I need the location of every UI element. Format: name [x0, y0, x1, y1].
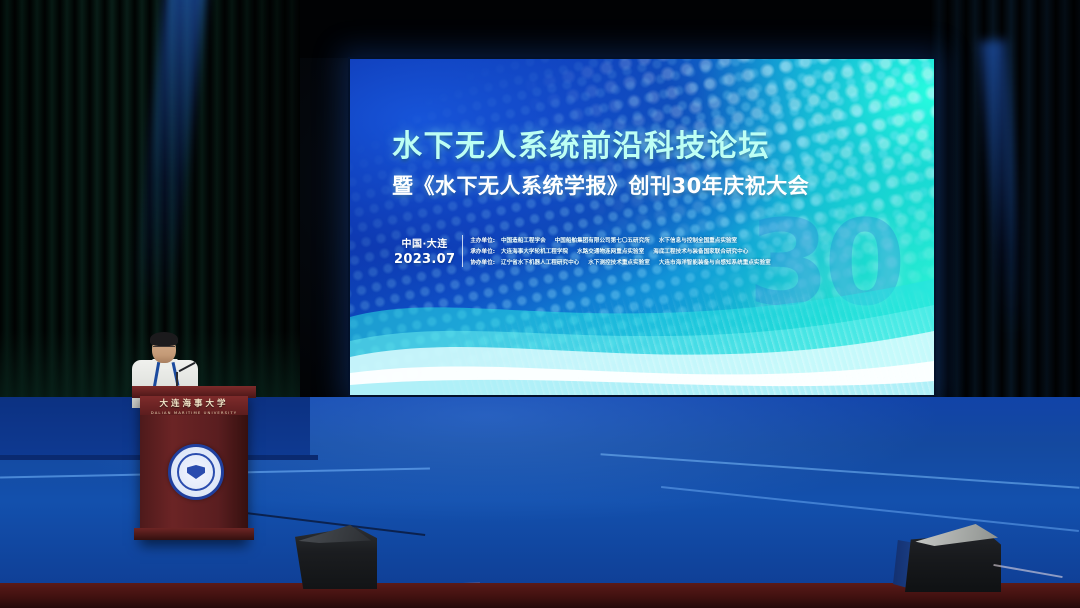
organizer-item: 水下测控技术重点实验室 [588, 258, 650, 266]
wave-line-texture [350, 275, 934, 395]
organizer-row: 主办单位: 中国造船工程学会 中国船舶集团有限公司第七〇五研究所 水下信息与控制… [470, 236, 770, 244]
emblem-core-shape [187, 465, 205, 479]
organizer-item: 水下信息与控制全国重点实验室 [659, 236, 737, 244]
organizer-item: 水路交通物连网重点实验室 [577, 247, 644, 255]
podium-nameplate: 大连海事大学 DALIAN MARITIME UNIVERSITY [140, 396, 248, 415]
organizer-item: 大连市海洋智能装备与自感知系统重点实验室 [659, 258, 771, 266]
organizer-item: 海底工程技术与装备国家联合研究中心 [653, 247, 748, 255]
event-city: 中国·大连 [394, 235, 455, 250]
forum-subtitle: 暨《水下无人系统学报》创刊30年庆祝大会 [392, 170, 809, 200]
organizer-item: 中国造船工程学会 [501, 236, 546, 244]
organizer-row: 协办单位: 辽宁省水下机器人工程研究中心 水下测控技术重点实验室 大连市海洋智能… [470, 258, 770, 266]
organizers-list: 主办单位: 中国造船工程学会 中国船舶集团有限公司第七〇五研究所 水下信息与控制… [470, 236, 770, 266]
overhead-truss-shadow [300, 0, 940, 58]
forum-title: 水下无人系统前沿科技论坛 [392, 121, 809, 165]
wave-graphic [350, 245, 934, 395]
screen-titles: 水下无人系统前沿科技论坛 暨《水下无人系统学报》创刊30年庆祝大会 [392, 121, 809, 200]
organizer-items: 中国造船工程学会 中国船舶集团有限公司第七〇五研究所 水下信息与控制全国重点实验… [501, 236, 737, 244]
screen-info-block: 中国·大连 2023.07 主办单位: 中国造船工程学会 中国船舶集团有限公司第… [394, 235, 771, 267]
organizer-label: 承办单位: [470, 247, 495, 255]
podium-sign-chinese: 大连海事大学 [159, 397, 228, 409]
led-screen: 30 水下无人系统前沿科技论坛 暨《水下无人系统学报》创刊30年庆祝大会 中国·… [348, 57, 936, 397]
organizer-items: 大连海事大学轮机工程学院 水路交通物连网重点实验室 海底工程技术与装备国家联合研… [501, 247, 748, 255]
university-emblem-icon [168, 444, 224, 500]
speaker-hair [150, 332, 178, 346]
organizer-row: 承办单位: 大连海事大学轮机工程学院 水路交通物连网重点实验室 海底工程技术与装… [470, 247, 770, 255]
podium-sign-english: DALIAN MARITIME UNIVERSITY [151, 410, 237, 415]
event-date: 2023.07 [394, 252, 455, 267]
organizer-items: 辽宁省水下机器人工程研究中心 水下测控技术重点实验室 大连市海洋智能装备与自感知… [501, 258, 771, 266]
organizer-label: 协办单位: [470, 258, 495, 266]
divider [462, 235, 463, 267]
organizer-label: 主办单位: [470, 236, 495, 244]
podium-base [134, 528, 254, 540]
speaker-glasses [153, 346, 175, 353]
organizer-item: 辽宁省水下机器人工程研究中心 [501, 258, 579, 266]
organizer-item: 中国船舶集团有限公司第七〇五研究所 [555, 236, 650, 244]
organizer-item: 大连海事大学轮机工程学院 [501, 247, 568, 255]
led-screen-surface: 30 水下无人系统前沿科技论坛 暨《水下无人系统学报》创刊30年庆祝大会 中国·… [350, 59, 934, 395]
where-when-block: 中国·大连 2023.07 [394, 235, 455, 267]
conference-stage-photo: 30 水下无人系统前沿科技论坛 暨《水下无人系统学报》创刊30年庆祝大会 中国·… [0, 0, 1080, 608]
emblem-inner-ring [177, 453, 215, 491]
